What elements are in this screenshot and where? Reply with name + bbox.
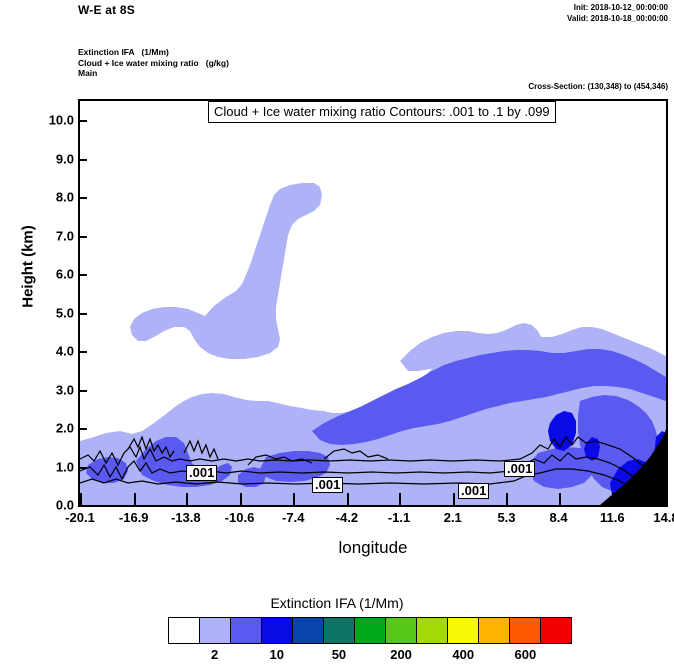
colorbar-cell [386, 618, 417, 643]
x-axis-tick-label: 2.1 [444, 510, 462, 525]
x-axis-tick-mark [559, 493, 561, 505]
y-axis-tick-label: 1.0 [32, 459, 74, 474]
y-axis-tick-label: 2.0 [32, 421, 74, 436]
colorbar-cell [200, 618, 231, 643]
x-axis-tick-label: -7.4 [282, 510, 304, 525]
colorbar-cell [231, 618, 262, 643]
variable-subtitle: Extinction IFA (1/Mm) Cloud + Ice water … [78, 47, 229, 79]
y-axis-tick-mark [78, 197, 87, 199]
x-axis-tick-mark [506, 493, 508, 505]
y-axis-tick-mark [78, 390, 87, 392]
x-axis-tick-label: -16.9 [119, 510, 149, 525]
y-axis-tick-mark [78, 313, 87, 315]
x-axis-tick-mark [240, 493, 242, 505]
x-axis-tick-label: -4.2 [336, 510, 358, 525]
y-axis-tick-label: 8.0 [32, 190, 74, 205]
colorbar-cell [541, 618, 571, 643]
x-axis-tick-mark [453, 493, 455, 505]
y-axis-tick-label: 3.0 [32, 382, 74, 397]
x-axis-tick-mark [612, 493, 614, 505]
y-axis-tick-mark [78, 120, 87, 122]
y-axis-tick-label: 7.0 [32, 228, 74, 243]
x-axis-tick-mark [666, 493, 668, 505]
valid-time-label: Valid: 2018-10-18_00:00:00 [567, 14, 668, 23]
x-axis-tick-label: -13.8 [171, 510, 201, 525]
colorbar-cell [479, 618, 510, 643]
x-axis-tick-mark [399, 493, 401, 505]
colorbar-tick-labels: 21050200400600 [168, 647, 572, 667]
x-axis-tick-labels: -20.1-16.9-13.8-10.6-7.4-4.2-1.12.15.38.… [78, 510, 668, 532]
x-axis-tick-label: -10.6 [225, 510, 255, 525]
y-axis-tick-label: 6.0 [32, 267, 74, 282]
y-axis-title: Height (km) [20, 197, 37, 337]
y-axis-tick-mark [78, 159, 87, 161]
colorbar-cell [262, 618, 293, 643]
contour-label: .001 [312, 477, 343, 493]
x-axis-tick-label: 14.8 [653, 510, 674, 525]
y-axis-tick-mark [78, 236, 87, 238]
x-axis-tick-label: 11.6 [600, 510, 625, 525]
cross-section-plot: .001 .001 .001 .001 [78, 99, 668, 507]
colorbar-cell [324, 618, 355, 643]
x-axis-tick-label: -20.1 [65, 510, 95, 525]
x-axis-tick-mark [80, 493, 82, 505]
y-axis-tick-mark [78, 428, 87, 430]
page-title: W-E at 8S [78, 3, 135, 17]
y-axis-tick-label: 4.0 [32, 344, 74, 359]
y-axis-tick-mark [78, 467, 87, 469]
init-time-label: Init: 2018-10-12_00:00:00 [574, 3, 668, 12]
y-axis-tick-mark [78, 351, 87, 353]
colorbar-cell [417, 618, 448, 643]
x-axis-tick-label: 5.3 [497, 510, 515, 525]
colorbar-tick-label: 600 [515, 647, 537, 662]
colorbar-cell [293, 618, 324, 643]
colorbar-tick-label: 200 [390, 647, 412, 662]
y-axis-tick-label: 10.0 [32, 113, 74, 128]
colorbar-tick-label: 50 [332, 647, 346, 662]
y-axis-tick-mark [78, 274, 87, 276]
x-axis-tick-mark [347, 493, 349, 505]
x-axis-tick-label: -1.1 [388, 510, 410, 525]
contour-label: .001 [458, 483, 489, 499]
contour-label: .001 [186, 465, 217, 481]
colorbar-tick-label: 10 [270, 647, 284, 662]
y-axis-tick-label: 5.0 [32, 305, 74, 320]
x-axis-tick-label: 8.4 [549, 510, 567, 525]
colorbar-cell [510, 618, 541, 643]
colorbar-title: Extinction IFA (1/Mm) [0, 595, 674, 611]
contour-title-box: Cloud + Ice water mixing ratio Contours:… [208, 101, 556, 123]
x-axis-tick-mark [134, 493, 136, 505]
y-axis-tick-mark [78, 505, 87, 507]
contour-label: .001 [504, 461, 535, 477]
y-axis-tick-label: 9.0 [32, 151, 74, 166]
colorbar [168, 617, 572, 644]
cross-section-label: Cross-Section: (130,348) to (454,346) [528, 82, 668, 91]
colorbar-cell [355, 618, 386, 643]
colorbar-cell [169, 618, 200, 643]
x-axis-tick-mark [186, 493, 188, 505]
plot-canvas [80, 101, 666, 505]
colorbar-cell [448, 618, 479, 643]
colorbar-tick-label: 400 [452, 647, 474, 662]
x-axis-title: longitude [78, 538, 668, 558]
x-axis-tick-mark [293, 493, 295, 505]
colorbar-tick-label: 2 [211, 647, 218, 662]
